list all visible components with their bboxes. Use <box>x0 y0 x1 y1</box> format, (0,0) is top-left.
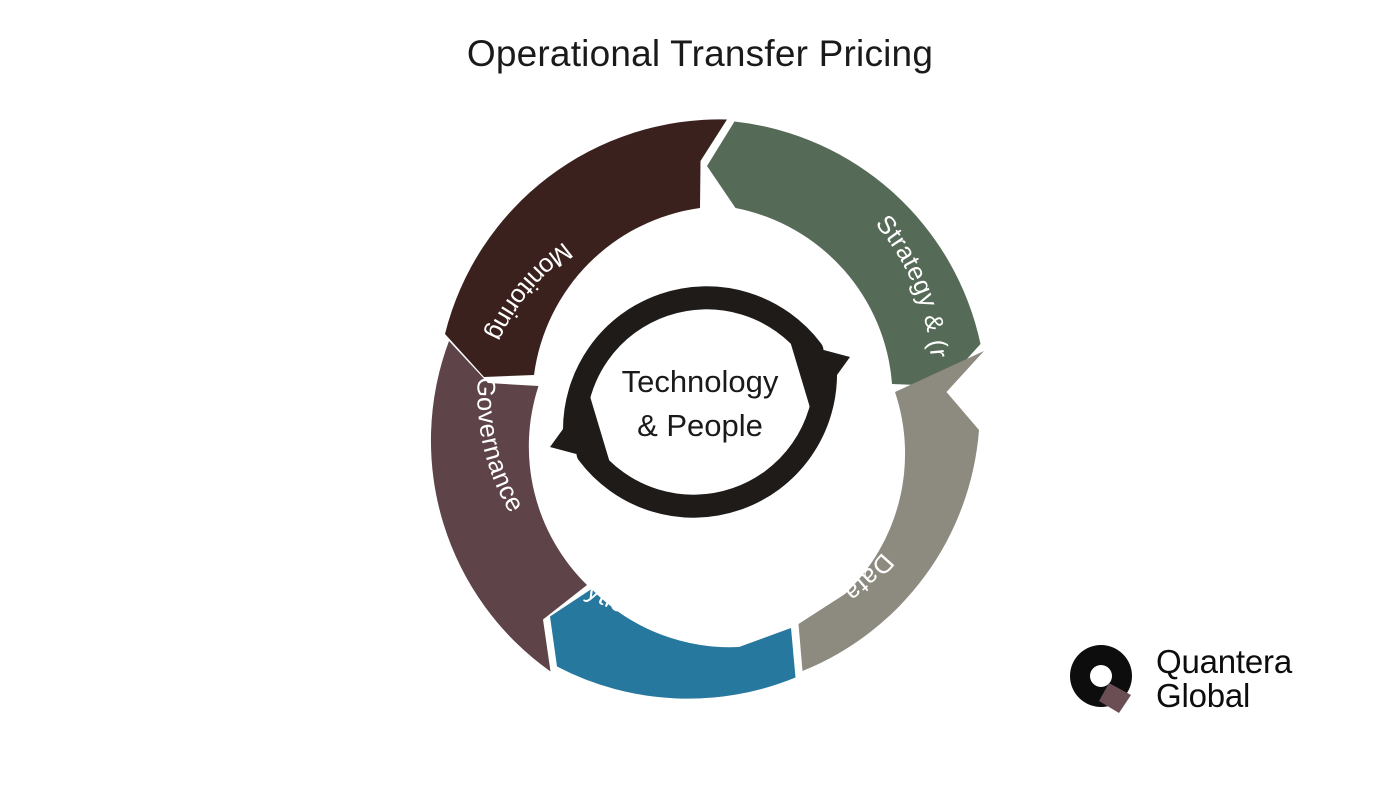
cycle-diagram-svg: Strategy & (re)design Data Analytics & p… <box>398 100 1002 704</box>
logo-line-2: Global <box>1156 679 1292 713</box>
logo-line-1: Quantera <box>1156 645 1292 679</box>
logo-wordmark: Quantera Global <box>1156 645 1292 713</box>
center-label-line1: Technology <box>622 364 779 399</box>
center-label-line2: & People <box>637 408 763 443</box>
cycle-diagram: Strategy & (re)design Data Analytics & p… <box>398 100 1002 704</box>
page-title: Operational Transfer Pricing <box>0 33 1400 75</box>
slide-canvas: Operational Transfer Pricing Strategy & … <box>0 0 1400 788</box>
brand-logo: Quantera Global <box>1068 636 1338 722</box>
segment-analytics-processes[interactable]: Analytics & processes <box>539 548 796 699</box>
quantera-q-icon <box>1068 643 1140 715</box>
